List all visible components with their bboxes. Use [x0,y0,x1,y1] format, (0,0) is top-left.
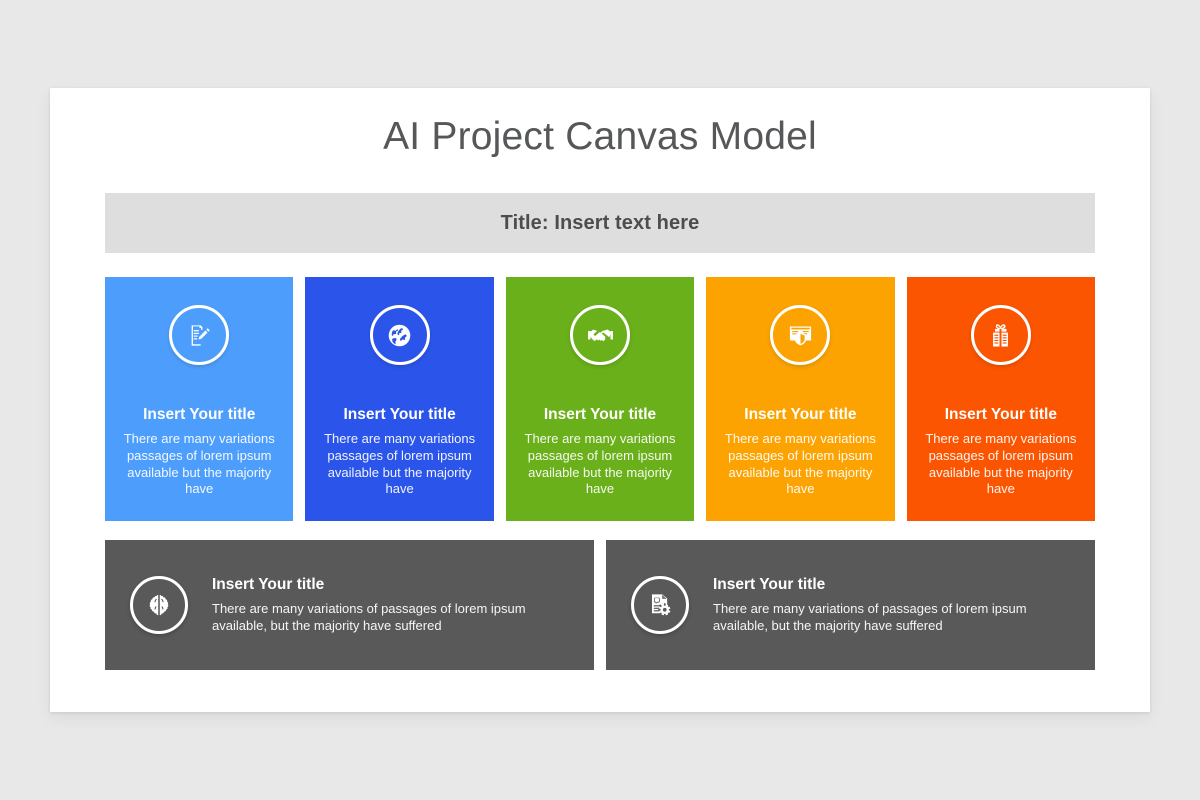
panel-title: Insert Your title [212,576,542,595]
card-title: Insert Your title [143,406,255,424]
panel-text: Insert Your title There are many variati… [212,576,542,634]
subtitle-text: Title: Insert text here [501,212,700,235]
panel-body: There are many variations of passages of… [212,600,542,635]
brain-icon [130,576,188,634]
browser-shield-icon [770,305,830,365]
card-5[interactable]: Insert Your title There are many variati… [907,277,1095,521]
card-title: Insert Your title [343,406,455,424]
document-pencil-icon [169,305,229,365]
card-body: There are many variations passages of lo… [113,431,285,499]
panel-text: Insert Your title There are many variati… [713,576,1043,634]
card-body: There are many variations passages of lo… [714,431,886,499]
handshake-icon [570,305,630,365]
panel-2[interactable]: Insert Your title There are many variati… [606,540,1095,670]
card-title: Insert Your title [744,406,856,424]
card-2[interactable]: Insert Your title There are many variati… [305,277,493,521]
document-gear-icon [631,576,689,634]
subtitle-bar[interactable]: Title: Insert text here [105,193,1095,253]
globe-icon [370,305,430,365]
panel-row: Insert Your title There are many variati… [105,540,1095,670]
panel-title: Insert Your title [713,576,1043,595]
card-title: Insert Your title [945,406,1057,424]
gift-box-icon [971,305,1031,365]
slide-canvas: AI Project Canvas Model Title: Insert te… [50,88,1150,712]
page-title: AI Project Canvas Model [50,115,1150,159]
card-title: Insert Your title [544,406,656,424]
card-3[interactable]: Insert Your title There are many variati… [506,277,694,521]
card-body: There are many variations passages of lo… [915,431,1087,499]
panel-1[interactable]: Insert Your title There are many variati… [105,540,594,670]
card-row: Insert Your title There are many variati… [105,277,1095,521]
card-1[interactable]: Insert Your title There are many variati… [105,277,293,521]
card-4[interactable]: Insert Your title There are many variati… [706,277,894,521]
panel-body: There are many variations of passages of… [713,600,1043,635]
card-body: There are many variations passages of lo… [514,431,686,499]
card-body: There are many variations passages of lo… [313,431,485,499]
